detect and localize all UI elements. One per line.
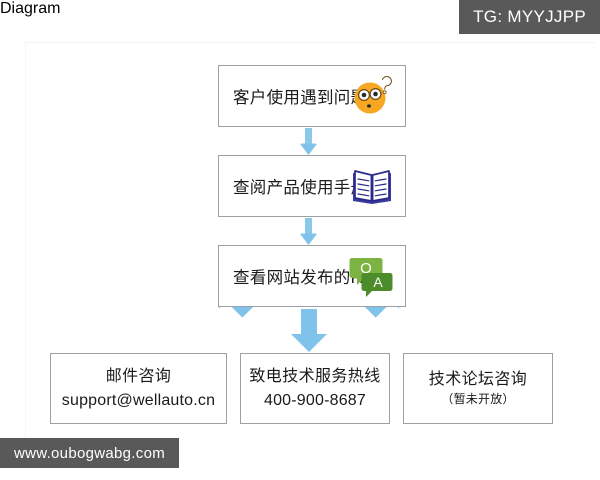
flow-node-phone[interactable]: 致电技术服务热线 400-900-8687 [240,353,390,424]
flowchart-canvas: 客户使用遇到问题 查阅产品使用手册 [0,0,600,480]
flow-node-email-title: 邮件咨询 [106,365,172,388]
watermark-bottom-left: www.oubogwabg.com [0,438,179,468]
flow-node-forum-title: 技术论坛咨询 [429,368,527,391]
flow-node-forum[interactable]: 技术论坛咨询 （暂未开放） [403,353,553,424]
flow-node-manual[interactable]: 查阅产品使用手册 [218,155,406,217]
flow-node-email-address: support@wellauto.cn [62,389,215,412]
flow-node-manual-label: 查阅产品使用手册 [233,174,367,198]
flow-node-problem[interactable]: 客户使用遇到问题 [218,65,406,127]
flow-node-phone-title: 致电技术服务热线 [249,365,380,388]
watermark-top-right: TG: MYYJJPP [459,0,600,34]
flow-node-email[interactable]: 邮件咨询 support@wellauto.cn [50,353,227,424]
qa-speech-bubbles-icon: Q A [349,253,395,299]
confused-face-emoji [349,73,395,119]
svg-text:A: A [373,274,383,290]
flow-node-faq[interactable]: 查看网站发布的FAQ Q A [218,245,406,307]
flow-node-forum-status: （暂未开放） [441,391,514,408]
flow-node-phone-number: 400-900-8687 [264,389,366,412]
open-book-icon [349,163,395,209]
flow-node-problem-label: 客户使用遇到问题 [233,84,367,108]
